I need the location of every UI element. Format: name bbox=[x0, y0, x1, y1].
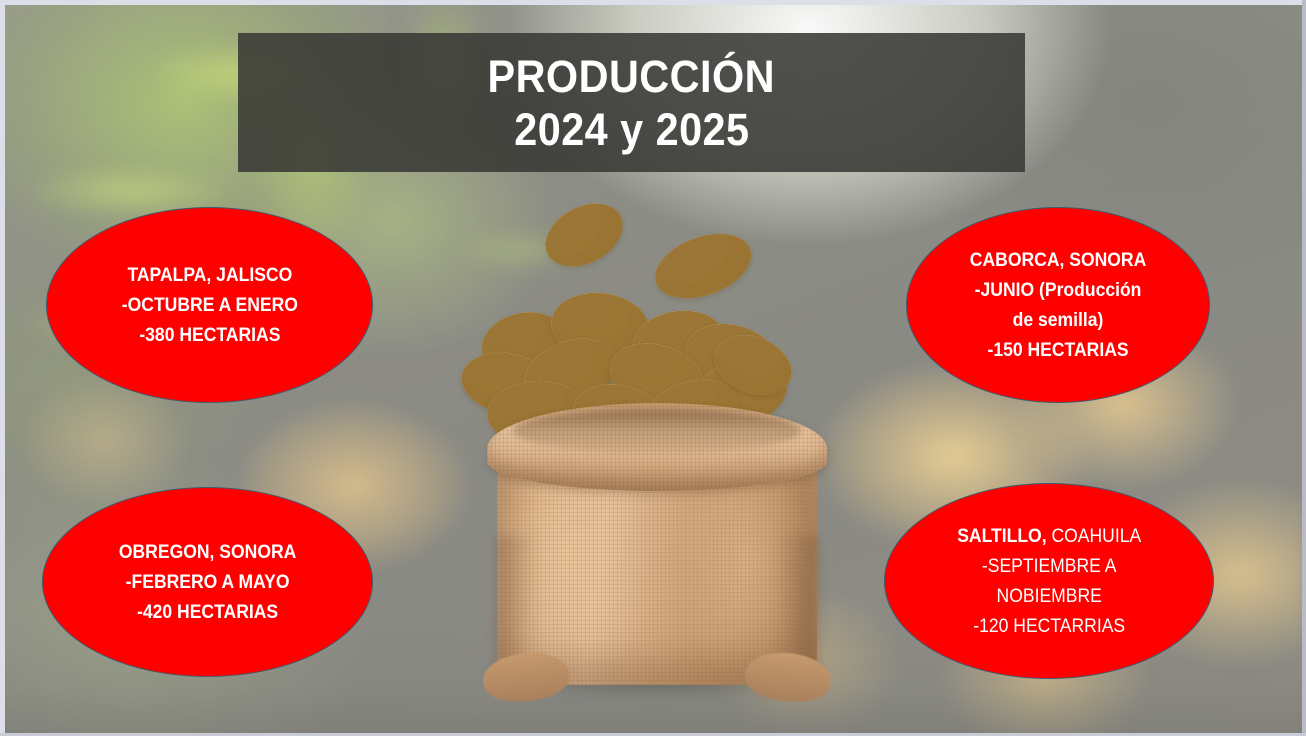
slide-edge-right bbox=[1302, 0, 1306, 736]
presentation-slide: PRODUCCIÓN 2024 y 2025 TAPALPA, JALISCO … bbox=[0, 0, 1306, 736]
slide-edge-top bbox=[0, 0, 1306, 5]
potato-sack-image bbox=[395, 185, 915, 730]
page-title-line-2: 2024 y 2025 bbox=[514, 103, 749, 156]
callout-tapalpa[interactable]: TAPALPA, JALISCO -OCTUBRE A ENERO -380 H… bbox=[46, 207, 373, 403]
callout-saltillo-text: SALTILLO, COAHUILA -SEPTIEMBRE A NOBIEMB… bbox=[957, 521, 1141, 641]
callout-obregon-text: OBREGON, SONORA -FEBRERO A MAYO -420 HEC… bbox=[119, 537, 296, 627]
callout-obregon-season: -FEBRERO A MAYO bbox=[119, 567, 296, 597]
page-title-line-1: PRODUCCIÓN bbox=[488, 50, 776, 103]
slide-edge-left bbox=[0, 0, 5, 736]
burlap-sack bbox=[487, 385, 827, 695]
callout-caborca-text: CABORCA, SONORA -JUNIO (Producción de se… bbox=[970, 245, 1146, 365]
callout-tapalpa-season: -OCTUBRE A ENERO bbox=[121, 290, 297, 320]
callout-tapalpa-text: TAPALPA, JALISCO -OCTUBRE A ENERO -380 H… bbox=[121, 260, 297, 350]
floating-potato-2 bbox=[646, 222, 760, 311]
callout-saltillo[interactable]: SALTILLO, COAHUILA -SEPTIEMBRE A NOBIEMB… bbox=[884, 483, 1214, 679]
callout-saltillo-location: SALTILLO, COAHUILA bbox=[957, 521, 1141, 551]
callout-saltillo-state: COAHUILA bbox=[1046, 525, 1141, 547]
callout-tapalpa-location: TAPALPA, JALISCO bbox=[121, 260, 297, 290]
sack-opening bbox=[513, 409, 801, 453]
callout-saltillo-season-line-1: -SEPTIEMBRE A bbox=[957, 551, 1141, 581]
callout-caborca[interactable]: CABORCA, SONORA -JUNIO (Producción de se… bbox=[906, 207, 1210, 403]
callout-saltillo-city: SALTILLO, bbox=[957, 525, 1046, 547]
callout-caborca-location: CABORCA, SONORA bbox=[970, 245, 1146, 275]
callout-saltillo-area: -120 HECTARRIAS bbox=[957, 611, 1141, 641]
callout-caborca-area: -150 HECTARIAS bbox=[970, 335, 1146, 365]
callout-tapalpa-area: -380 HECTARIAS bbox=[121, 320, 297, 350]
callout-caborca-season-line-2: de semilla) bbox=[970, 305, 1146, 335]
floating-potato-1 bbox=[535, 191, 634, 279]
callout-saltillo-season-line-2: NOBIEMBRE bbox=[957, 581, 1141, 611]
callout-obregon-area: -420 HECTARIAS bbox=[119, 597, 296, 627]
title-banner: PRODUCCIÓN 2024 y 2025 bbox=[238, 33, 1025, 172]
callout-obregon-location: OBREGON, SONORA bbox=[119, 537, 296, 567]
callout-caborca-season-line-1: -JUNIO (Producción bbox=[970, 275, 1146, 305]
callout-obregon[interactable]: OBREGON, SONORA -FEBRERO A MAYO -420 HEC… bbox=[42, 487, 373, 677]
